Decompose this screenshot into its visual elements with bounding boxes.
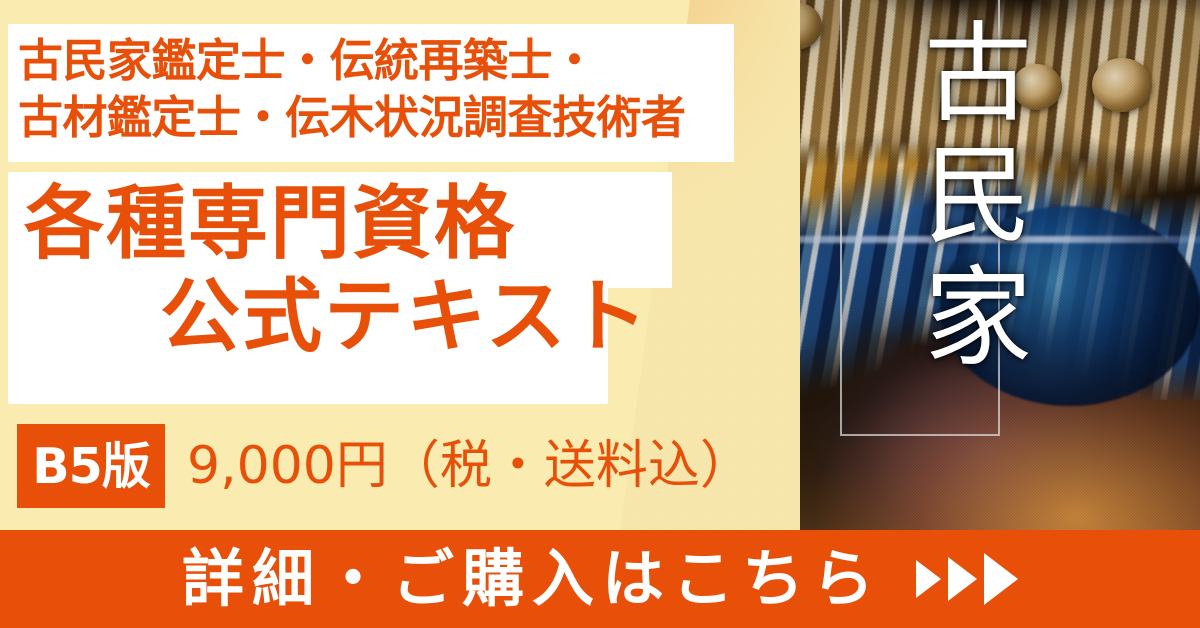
promo-banner: 古民家 伝統構法 古民家活用のための調査と再生の 古民家鑑定士・伝統再築士・ 古… [0,0,1200,628]
qualification-list: 古民家鑑定士・伝統再築士・ 古材鑑定士・伝木状況調査技術者 [18,32,724,146]
qualification-line-2: 古材鑑定士・伝木状況調査技術者 [18,89,724,146]
cta-button[interactable]: 詳細・ご購入はこちら [0,530,1200,628]
price-row: B5版 9,000円（税・送料込） [17,424,752,508]
format-badge: B5版 [17,424,165,508]
price-value: 9,000円（税・送料込） [187,440,752,492]
triangle-right-icon [984,553,1018,605]
triangle-right-icon [916,560,941,598]
qualification-line-1: 古民家鑑定士・伝統再築士・ [18,32,724,89]
cta-arrow-group [916,553,1018,605]
triangle-right-icon [948,557,977,601]
headline-line-1: 各種専門資格 [0,178,672,271]
page-title: 各種専門資格 公式テキスト [0,178,672,364]
headline-line-2: 公式テキスト [0,271,672,364]
book-title: 古民家 [890,16,1046,382]
cta-label: 詳細・ご購入はこちら [182,548,882,610]
